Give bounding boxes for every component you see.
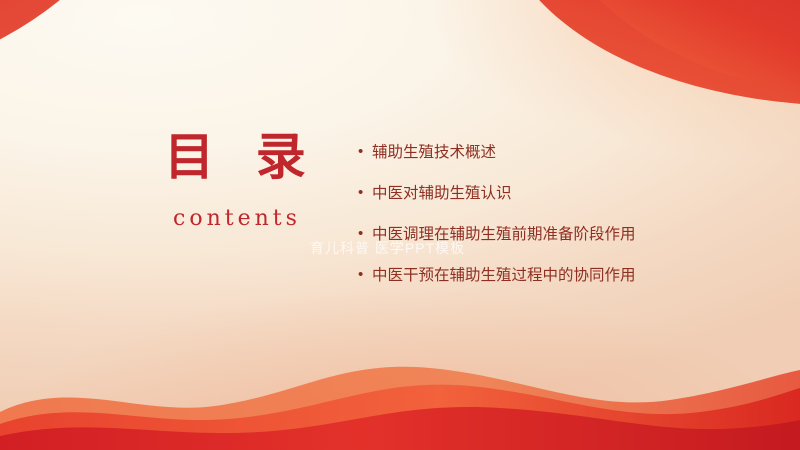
list-item[interactable]: • 中医干预在辅助生殖过程中的协同作用 [358,263,726,288]
bullet-icon: • [358,263,372,287]
slide-content: 目 录 contents • 辅助生殖技术概述 • 中医对辅助生殖认识 • 中医… [0,0,800,450]
page-title: 目 录 [120,128,350,186]
list-item-label: 中医干预在辅助生殖过程中的协同作用 [372,263,726,288]
page-subtitle: contents [120,206,350,231]
bullet-icon: • [358,222,372,246]
list-item-label: 中医调理在辅助生殖前期准备阶段作用 [372,222,726,247]
list-item[interactable]: • 中医对辅助生殖认识 [358,181,726,206]
list-item-label: 辅助生殖技术概述 [372,140,726,165]
title-block: 目 录 contents [120,128,350,231]
slide-canvas: 目 录 contents • 辅助生殖技术概述 • 中医对辅助生殖认识 • 中医… [0,0,800,450]
bullet-icon: • [358,181,372,205]
bullet-icon: • [358,140,372,164]
list-item[interactable]: • 辅助生殖技术概述 [358,140,726,165]
list-item-label: 中医对辅助生殖认识 [372,181,726,206]
list-item[interactable]: • 中医调理在辅助生殖前期准备阶段作用 [358,222,726,247]
table-of-contents: • 辅助生殖技术概述 • 中医对辅助生殖认识 • 中医调理在辅助生殖前期准备阶段… [358,140,726,304]
